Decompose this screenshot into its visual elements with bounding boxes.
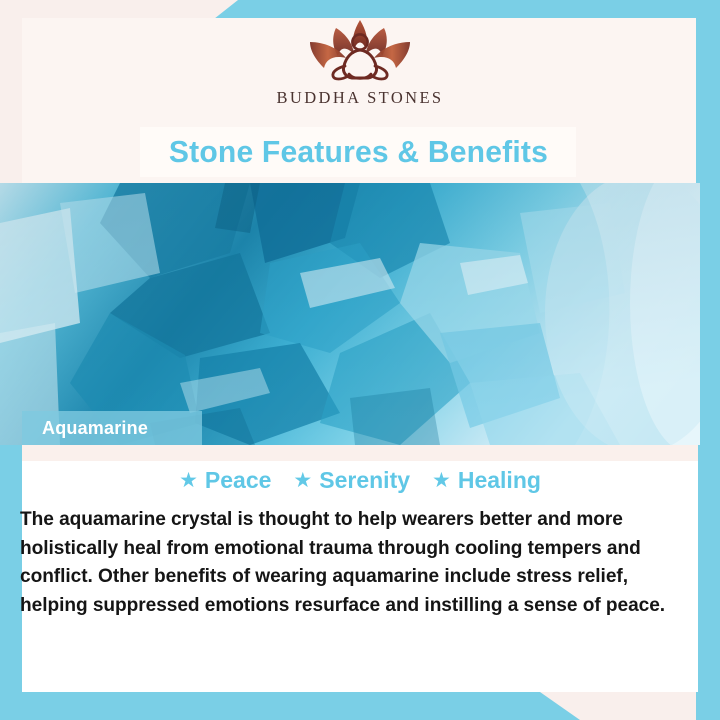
page-title: Stone Features & Benefits: [168, 134, 547, 170]
keyword-item-serenity: ★ Serenity: [293, 467, 410, 494]
title-banner: Stone Features & Benefits: [140, 127, 576, 177]
lotus-meditation-icon: [276, 14, 444, 86]
keyword-list: ★ Peace ★ Serenity ★ Healing: [22, 467, 698, 494]
keyword-item-healing: ★ Healing: [432, 467, 541, 494]
stone-name-label: Aquamarine: [42, 418, 148, 439]
hero-image: Aquamarine: [0, 183, 700, 445]
infographic-page: BUDDHA STONES Stone Features & Benefits: [0, 0, 720, 720]
keyword-label: Peace: [205, 467, 272, 494]
keyword-label: Healing: [458, 467, 541, 494]
star-icon: ★: [432, 470, 451, 491]
keyword-label: Serenity: [319, 467, 410, 494]
photo-divider-strip: [22, 445, 698, 461]
description-section: ★ Peace ★ Serenity ★ Healing The aquamar…: [22, 461, 698, 692]
brand-name: BUDDHA STONES: [276, 88, 443, 108]
star-icon: ★: [179, 470, 198, 491]
brand-logo: BUDDHA STONES: [0, 14, 720, 108]
stone-name-tag: Aquamarine: [22, 411, 202, 445]
star-icon: ★: [293, 470, 312, 491]
frame-band-bottom: [0, 692, 580, 720]
description-text: The aquamarine crystal is thought to hel…: [20, 505, 670, 619]
keyword-item-peace: ★ Peace: [179, 467, 271, 494]
aquamarine-crystal-photo: [0, 183, 700, 445]
